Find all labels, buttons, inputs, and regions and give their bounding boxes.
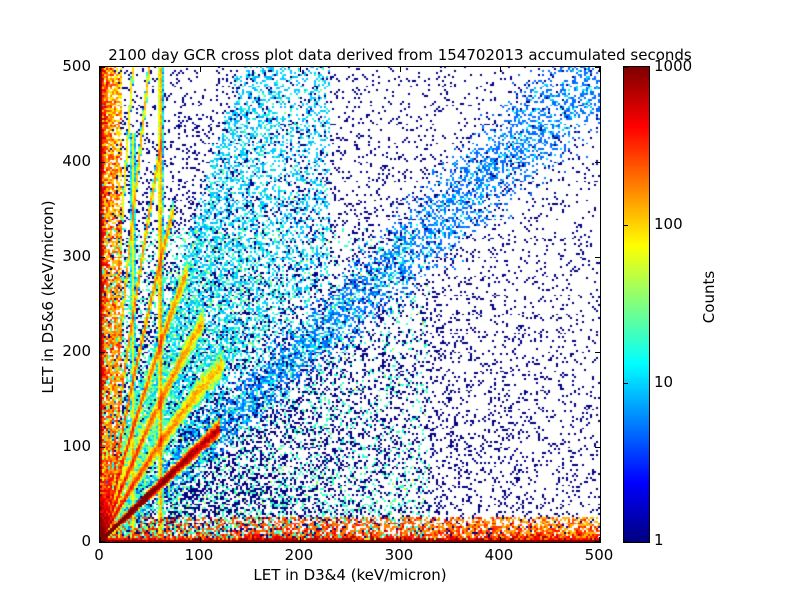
plot-axes: [99, 66, 601, 543]
y-tick-0: [100, 541, 105, 542]
x-tick-label-300: 300: [369, 546, 429, 564]
colorbar-tick-100: [624, 225, 628, 226]
colorbar-gradient: [624, 67, 649, 542]
y-tick-0: [595, 541, 600, 542]
x-tick-200: [300, 67, 301, 72]
y-tick-400: [100, 162, 105, 163]
colorbar-tick-label-100: 100: [654, 215, 683, 233]
x-axis-label: LET in D3&4 (keV/micron): [99, 566, 601, 584]
colorbar-tick-1: [624, 541, 628, 542]
y-tick-label-0: 0: [31, 532, 91, 550]
y-tick-label-200: 200: [31, 342, 91, 360]
colorbar-label: Counts: [700, 217, 718, 377]
y-tick-label-300: 300: [31, 247, 91, 265]
x-tick-200: [300, 537, 301, 542]
y-tick-500: [100, 67, 105, 68]
x-tick-100: [200, 537, 201, 542]
colorbar-tick-label-1: 1: [654, 531, 664, 549]
y-tick-200: [100, 352, 105, 353]
x-tick-label-100: 100: [169, 546, 229, 564]
colorbar-tick-10: [624, 383, 628, 384]
colorbar-tick-label-1000: 1000: [654, 57, 692, 75]
colorbar-tick-label-10: 10: [654, 373, 673, 391]
x-tick-label-500: 500: [569, 546, 629, 564]
colorbar-tick-1000: [624, 67, 628, 68]
y-axis-label: LET in D5&6 (keV/micron): [39, 167, 57, 427]
colorbar: [623, 66, 650, 543]
y-tick-100: [595, 447, 600, 448]
y-tick-label-100: 100: [31, 437, 91, 455]
x-tick-400: [500, 67, 501, 72]
y-tick-100: [100, 447, 105, 448]
x-tick-300: [400, 67, 401, 72]
x-tick-label-400: 400: [469, 546, 529, 564]
figure-canvas: 2100 day GCR cross plot data derived fro…: [0, 0, 800, 600]
x-tick-400: [500, 537, 501, 542]
x-tick-label-200: 200: [269, 546, 329, 564]
density-heatmap: [100, 67, 600, 542]
y-tick-200: [595, 352, 600, 353]
y-tick-label-500: 500: [31, 57, 91, 75]
y-tick-500: [595, 67, 600, 68]
x-tick-100: [200, 67, 201, 72]
y-tick-300: [100, 257, 105, 258]
y-tick-300: [595, 257, 600, 258]
y-tick-400: [595, 162, 600, 163]
x-tick-300: [400, 537, 401, 542]
y-tick-label-400: 400: [31, 152, 91, 170]
